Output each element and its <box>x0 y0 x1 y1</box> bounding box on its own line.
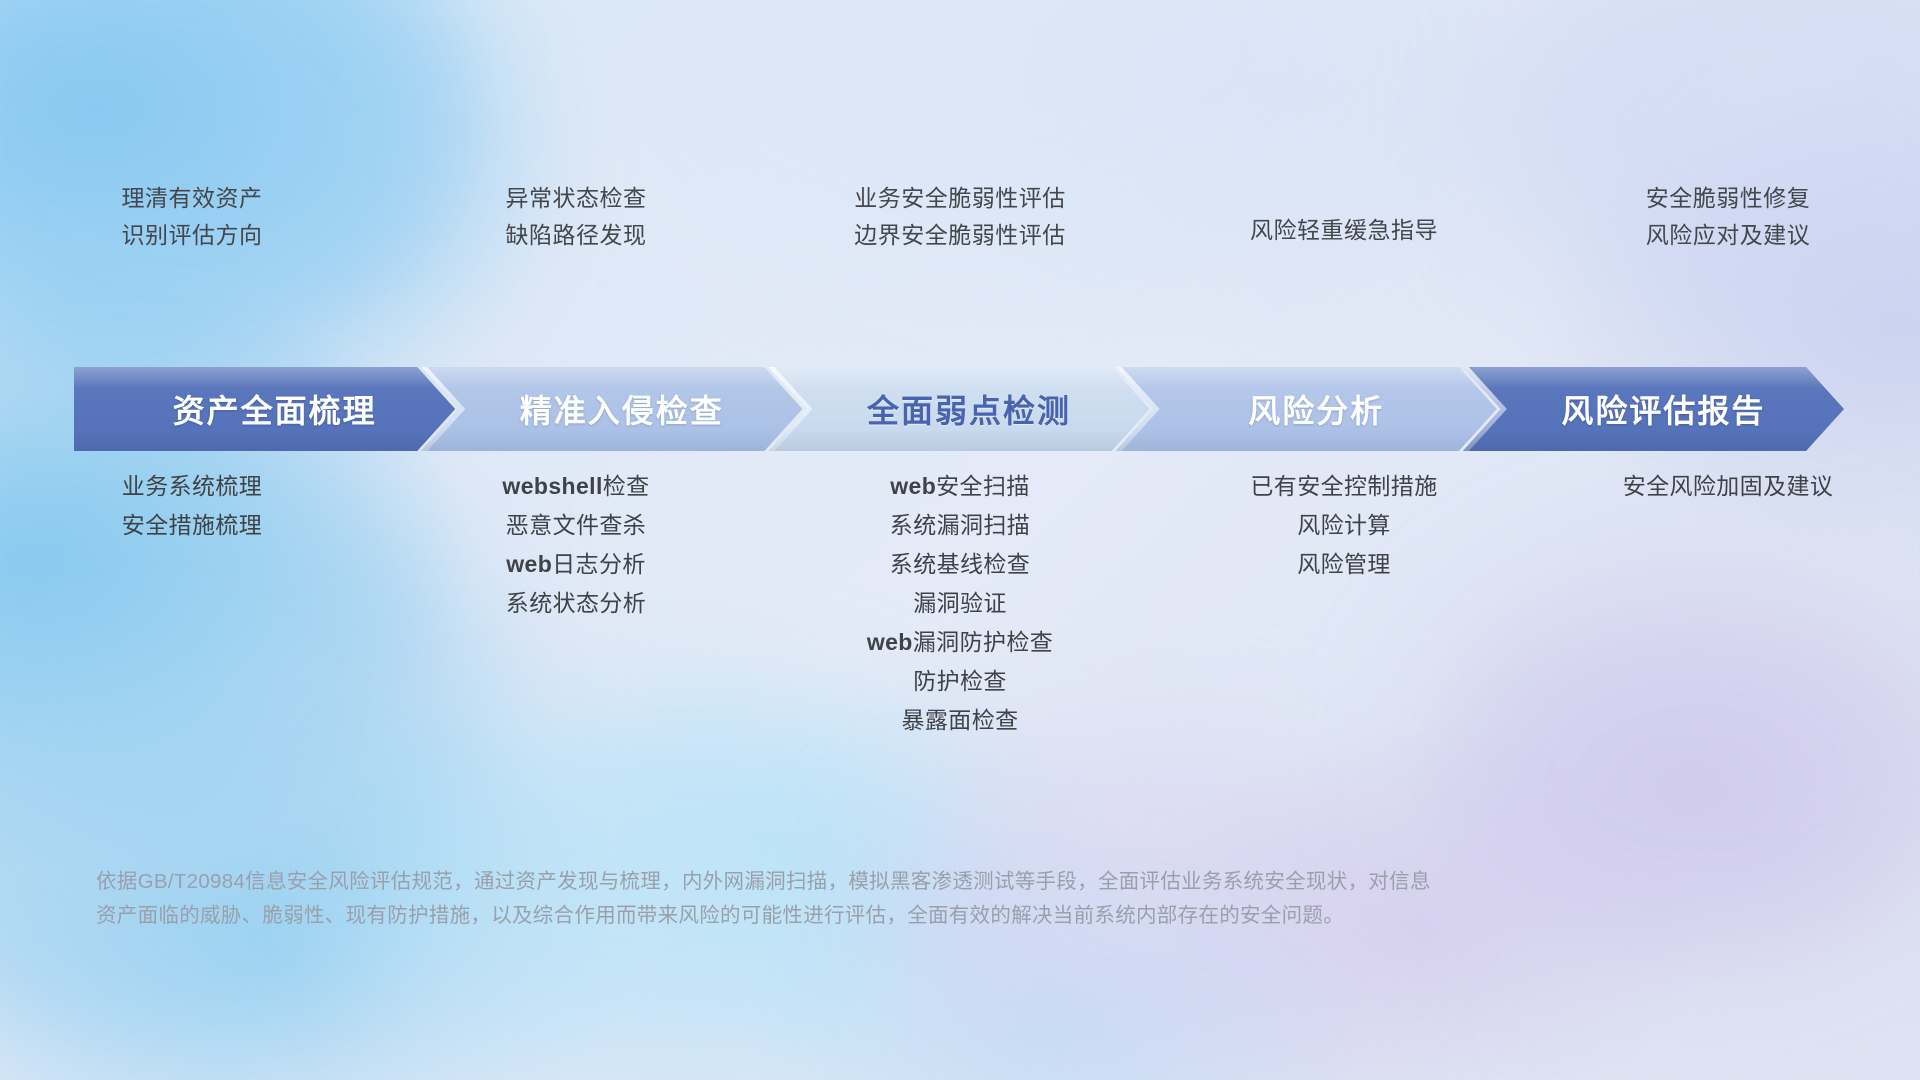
footer-line: 资产面临的威胁、脆弱性、现有防护措施，以及综合作用而带来风险的可能性进行评估，全… <box>96 899 1656 933</box>
chevron-stage-2[interactable]: 精准入侵检查 <box>421 367 802 451</box>
top-notes-row: 理清有效资产 识别评估方向 异常状态检查 缺陷路径发现 业务安全脆弱性评估 边界… <box>0 175 1920 285</box>
chevron-label: 资产全面梳理 <box>74 386 455 432</box>
detail-item: 防护检查 <box>913 670 1007 693</box>
top-notes-stage-4: 风险轻重缓急指导 <box>1152 175 1536 285</box>
top-note: 异常状态检查 <box>506 187 647 210</box>
detail-item: webshell检查 <box>502 475 649 498</box>
top-note: 风险轻重缓急指导 <box>1250 219 1438 242</box>
detail-item: 恶意文件查杀 <box>506 514 646 537</box>
chevron-stage-4[interactable]: 风险分析 <box>1116 367 1497 451</box>
details-stage-2: webshell检查恶意文件查杀web日志分析系统状态分析 <box>384 475 768 735</box>
chevron-stage-5[interactable]: 风险评估报告 <box>1463 367 1844 451</box>
detail-item: 安全风险加固及建议 <box>1623 475 1834 498</box>
detail-item: 系统状态分析 <box>506 592 646 615</box>
top-note: 业务安全脆弱性评估 <box>854 187 1066 210</box>
footer-line: 依据GB/T20984信息安全风险评估规范，通过资产发现与梳理，内外网漏洞扫描，… <box>96 865 1656 899</box>
detail-item: 业务系统梳理 <box>122 475 262 498</box>
detail-item: 系统漏洞扫描 <box>890 514 1030 537</box>
details-stage-4: 已有安全控制措施风险计算风险管理 <box>1152 475 1536 735</box>
process-diagram: 理清有效资产 识别评估方向 异常状态检查 缺陷路径发现 业务安全脆弱性评估 边界… <box>0 0 1920 1080</box>
detail-item: 风险计算 <box>1297 514 1391 537</box>
chevron-stage-3[interactable]: 全面弱点检测 <box>768 367 1149 451</box>
detail-item: 安全措施梳理 <box>122 514 262 537</box>
detail-item: 系统基线检查 <box>890 553 1030 576</box>
bottom-details-row: 业务系统梳理安全措施梳理 webshell检查恶意文件查杀web日志分析系统状态… <box>0 475 1920 735</box>
detail-item: web漏洞防护检查 <box>867 631 1053 654</box>
chevron-band: 资产全面梳理 精准入侵检查 全面弱点检测 风险分析 风险评估报告 <box>74 367 1844 451</box>
top-note: 边界安全脆弱性评估 <box>854 224 1066 247</box>
detail-item: web安全扫描 <box>890 475 1030 498</box>
top-note: 缺陷路径发现 <box>506 224 647 247</box>
chevron-stage-1[interactable]: 资产全面梳理 <box>74 367 455 451</box>
top-notes-stage-5: 安全脆弱性修复 风险应对及建议 <box>1536 175 1920 285</box>
top-notes-stage-3: 业务安全脆弱性评估 边界安全脆弱性评估 <box>768 175 1152 285</box>
details-stage-1: 业务系统梳理安全措施梳理 <box>0 475 384 735</box>
chevron-label: 风险分析 <box>1116 386 1497 432</box>
detail-item: 漏洞验证 <box>913 592 1007 615</box>
detail-item: 风险管理 <box>1297 553 1391 576</box>
detail-item: 已有安全控制措施 <box>1250 475 1437 498</box>
top-note: 安全脆弱性修复 <box>1646 187 1811 210</box>
top-notes-stage-2: 异常状态检查 缺陷路径发现 <box>384 175 768 285</box>
details-stage-3: web安全扫描系统漏洞扫描系统基线检查漏洞验证web漏洞防护检查防护检查暴露面检… <box>768 475 1152 735</box>
detail-item: web日志分析 <box>506 553 646 576</box>
chevron-label: 精准入侵检查 <box>421 386 802 432</box>
chevron-label: 全面弱点检测 <box>768 386 1149 432</box>
top-note: 识别评估方向 <box>122 224 263 247</box>
details-stage-5: 安全风险加固及建议 <box>1536 475 1920 735</box>
footer-description: 依据GB/T20984信息安全风险评估规范，通过资产发现与梳理，内外网漏洞扫描，… <box>96 865 1656 933</box>
chevron-label: 风险评估报告 <box>1463 386 1844 432</box>
top-note: 风险应对及建议 <box>1646 224 1811 247</box>
detail-item: 暴露面检查 <box>902 709 1019 732</box>
top-notes-stage-1: 理清有效资产 识别评估方向 <box>0 175 384 285</box>
top-note: 理清有效资产 <box>122 187 263 210</box>
